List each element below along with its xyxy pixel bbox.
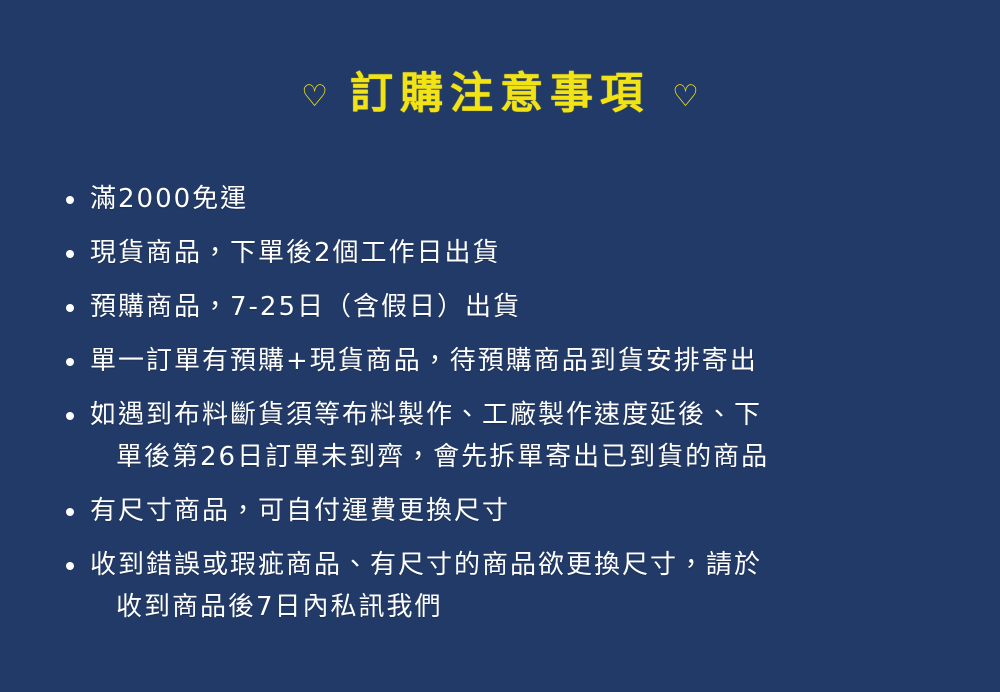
note-line: 有尺寸商品，可自付運費更換尺寸 [90, 490, 962, 532]
note-line: 如遇到布料斷貨須等布料製作、工廠製作速度延後、下 [90, 394, 962, 436]
note-line: 預購商品，7-25日（含假日）出貨 [90, 286, 962, 328]
order-notice-poster: ♡ 訂購注意事項 ♡ 滿2000免運 現貨商品，下單後2個工作日出貨 預購商品，… [0, 0, 1000, 692]
list-item: 預購商品，7-25日（含假日）出貨 [62, 286, 962, 328]
list-item: 收到錯誤或瑕疵商品、有尺寸的商品欲更換尺寸，請於 收到商品後7日內私訊我們 [62, 544, 962, 628]
note-line: 單一訂單有預購+現貨商品，待預購商品到貨安排寄出 [90, 340, 962, 382]
note-line: 現貨商品，下單後2個工作日出貨 [90, 232, 962, 274]
list-item: 如遇到布料斷貨須等布料製作、工廠製作速度延後、下 單後第26日訂單未到齊，會先拆… [62, 394, 962, 478]
note-line: 收到商品後7日內私訊我們 [90, 586, 962, 628]
page-title-text: 訂購注意事項 [350, 72, 650, 117]
list-item: 滿2000免運 [62, 178, 962, 220]
page-title: ♡ 訂購注意事項 ♡ [0, 72, 1000, 117]
note-line: 收到錯誤或瑕疵商品、有尺寸的商品欲更換尺寸，請於 [90, 544, 962, 586]
list-item: 單一訂單有預購+現貨商品，待預購商品到貨安排寄出 [62, 340, 962, 382]
heart-icon-left: ♡ [301, 82, 328, 112]
notice-list: 滿2000免運 現貨商品，下單後2個工作日出貨 預購商品，7-25日（含假日）出… [62, 178, 962, 640]
note-line: 滿2000免運 [90, 178, 962, 220]
list-item: 有尺寸商品，可自付運費更換尺寸 [62, 490, 962, 532]
note-line: 單後第26日訂單未到齊，會先拆單寄出已到貨的商品 [90, 436, 962, 478]
list-item: 現貨商品，下單後2個工作日出貨 [62, 232, 962, 274]
heart-icon-right: ♡ [672, 82, 699, 112]
